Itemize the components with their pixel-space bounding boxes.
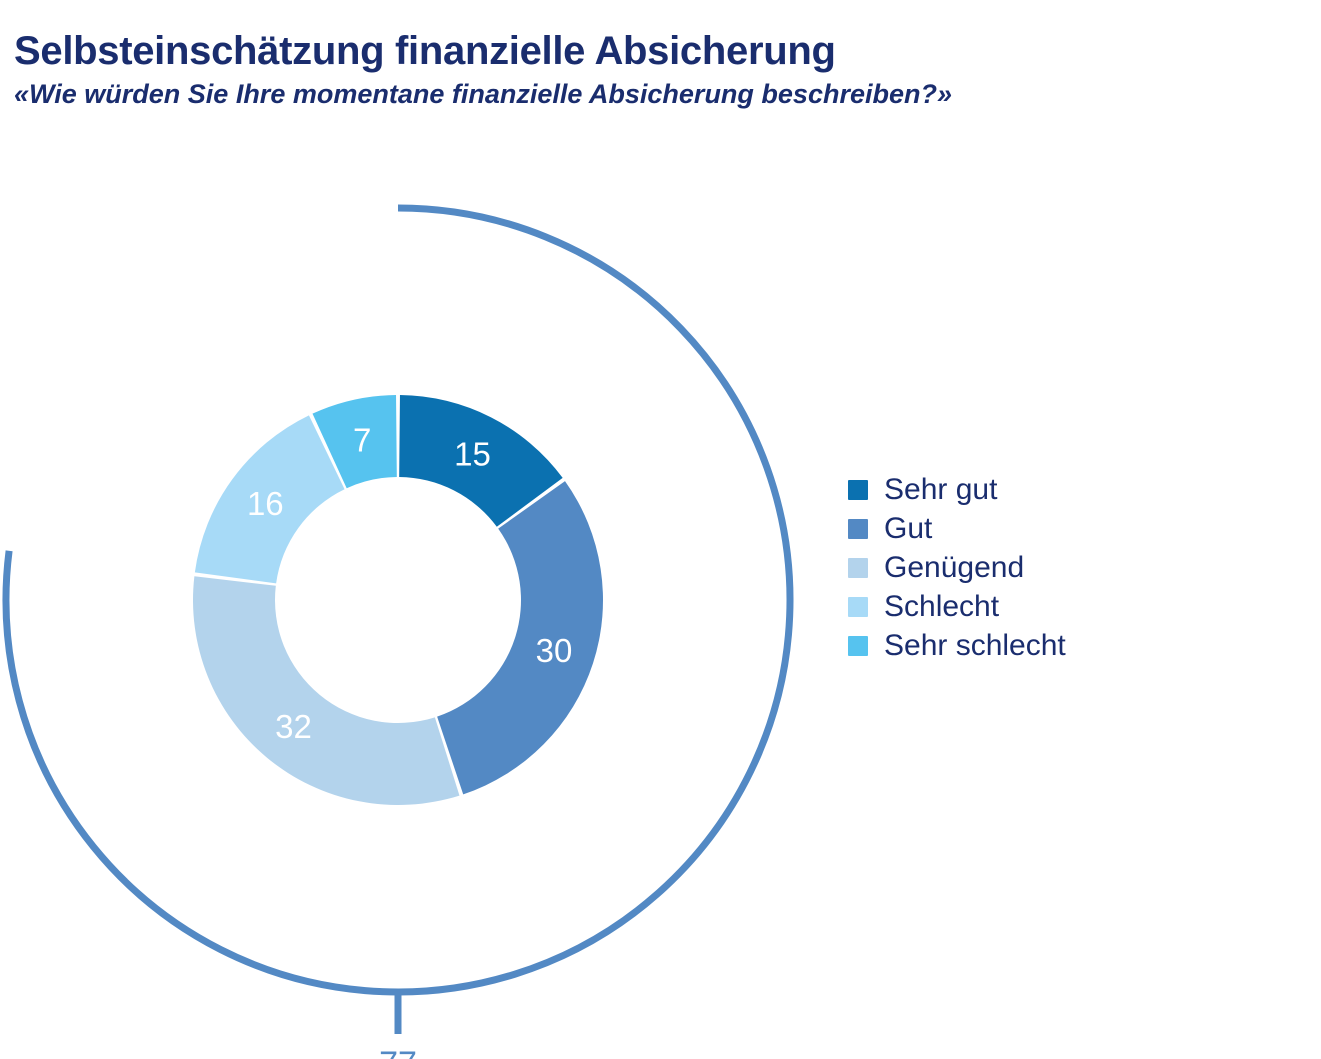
donut-chart: 153032167 77 xyxy=(0,150,820,1059)
slice-value-label: 32 xyxy=(275,708,312,745)
legend-item[interactable]: Genügend xyxy=(848,548,1178,587)
donut-slices xyxy=(193,395,603,805)
chart-subtitle: «Wie würden Sie Ihre momentane finanziel… xyxy=(14,79,1294,110)
legend-item-label: Genügend xyxy=(884,553,1024,583)
legend-swatch-icon xyxy=(848,636,868,656)
chart-legend: Sehr gutGutGenügendSchlechtSehr schlecht xyxy=(848,470,1178,665)
slice-value-label: 16 xyxy=(247,485,284,522)
legend-item[interactable]: Schlecht xyxy=(848,587,1178,626)
bracket-annotation: 77 xyxy=(6,208,790,1059)
legend-swatch-icon xyxy=(848,480,868,500)
legend-item-label: Sehr schlecht xyxy=(884,631,1066,661)
donut-chart-svg: 153032167 77 xyxy=(0,150,820,1059)
donut-slice[interactable] xyxy=(193,576,459,805)
legend-item-label: Gut xyxy=(884,514,932,544)
slice-value-label: 30 xyxy=(536,632,573,669)
chart-header: Selbsteinschätzung finanzielle Absicheru… xyxy=(14,30,1294,110)
legend-item[interactable]: Sehr schlecht xyxy=(848,626,1178,665)
slice-value-label: 7 xyxy=(353,421,371,458)
legend-item[interactable]: Sehr gut xyxy=(848,470,1178,509)
donut-slice[interactable] xyxy=(437,481,603,794)
legend-swatch-icon xyxy=(848,597,868,617)
slice-value-label: 15 xyxy=(454,435,491,472)
page-title: Selbsteinschätzung finanzielle Absicheru… xyxy=(14,30,1294,73)
bracket-arc xyxy=(6,208,790,992)
bracket-total-label: 77 xyxy=(379,1045,417,1059)
legend-swatch-icon xyxy=(848,519,868,539)
legend-item-label: Sehr gut xyxy=(884,475,997,505)
legend-swatch-icon xyxy=(848,558,868,578)
legend-item-label: Schlecht xyxy=(884,592,999,622)
legend-item[interactable]: Gut xyxy=(848,509,1178,548)
